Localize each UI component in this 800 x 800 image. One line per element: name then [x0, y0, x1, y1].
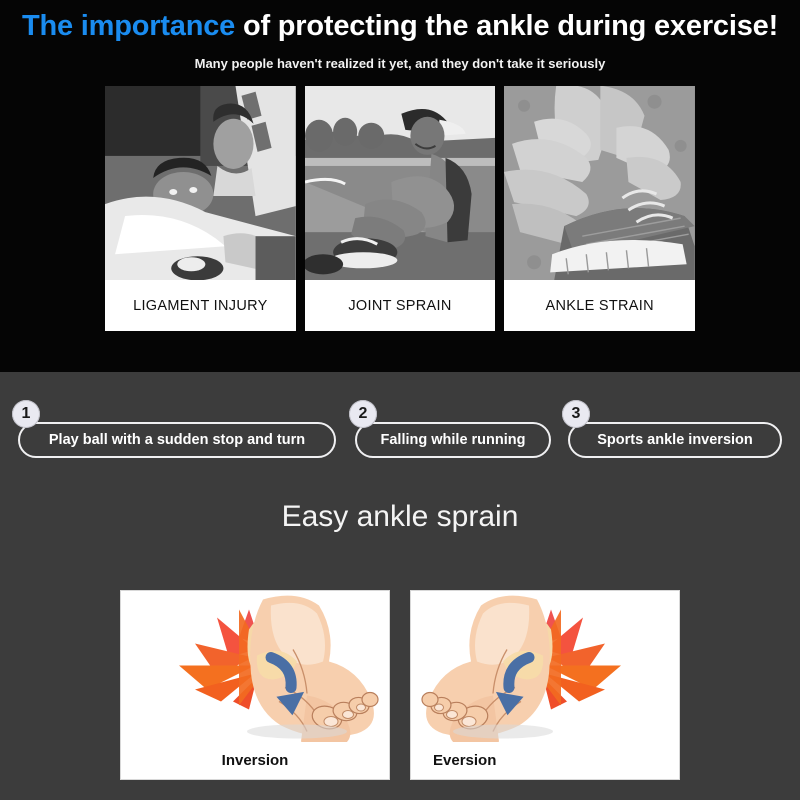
photo-runner-joint-sprain [305, 86, 496, 280]
injury-caption: LIGAMENT INJURY [105, 280, 296, 331]
cause-number-badge-3: 3 [562, 400, 590, 428]
causes-list: Play ball with a sudden stop and turn 1 … [0, 400, 800, 472]
diagram-card-eversion: Eversion [410, 590, 680, 780]
injury-card-ankle-strain: ANKLE STRAIN [504, 86, 695, 331]
cause-pill-3[interactable]: Sports ankle inversion [568, 422, 782, 458]
cause-label: Falling while running [381, 432, 526, 448]
injury-card-joint-sprain: JOINT SPRAIN [305, 86, 496, 331]
diagram-caption: Inversion [121, 742, 389, 779]
inversion-illustration [121, 591, 389, 742]
cause-number-badge-2: 2 [349, 400, 377, 428]
injury-photo-row: LIGAMENT INJURY [105, 86, 695, 331]
foot-eversion-icon [411, 591, 679, 742]
foot-inversion-icon [121, 591, 389, 742]
hero-section: The importance of protecting the ankle d… [0, 0, 800, 372]
section-heading: Easy ankle sprain [0, 500, 800, 534]
infographic-page: The importance of protecting the ankle d… [0, 0, 800, 800]
page-title-accent: The importance [22, 10, 235, 42]
cause-number-badge-1: 1 [12, 400, 40, 428]
page-subtitle: Many people haven't realized it yet, and… [0, 56, 800, 71]
cause-pill-2[interactable]: Falling while running [355, 422, 551, 458]
page-title-rest: of protecting the ankle during exercise! [235, 10, 778, 42]
photo-athlete-ligament-injury [105, 86, 296, 280]
diagram-card-inversion: Inversion [120, 590, 390, 780]
photo-hands-ankle-strain [504, 86, 695, 280]
body-section: Play ball with a sudden stop and turn 1 … [0, 372, 800, 800]
eversion-illustration [411, 591, 679, 742]
injury-caption: JOINT SPRAIN [305, 280, 496, 331]
athlete-illustration-icon [105, 86, 296, 280]
sprain-diagram-row: Inversion [120, 590, 680, 780]
cause-label: Sports ankle inversion [597, 432, 753, 448]
cause-pill-1[interactable]: Play ball with a sudden stop and turn [18, 422, 336, 458]
page-title: The importance of protecting the ankle d… [0, 10, 800, 43]
diagram-caption: Eversion [411, 742, 679, 779]
hands-ankle-illustration-icon [504, 86, 695, 280]
cause-label: Play ball with a sudden stop and turn [49, 432, 305, 448]
injury-card-ligament: LIGAMENT INJURY [105, 86, 296, 331]
runner-illustration-icon [305, 86, 496, 280]
injury-caption: ANKLE STRAIN [504, 280, 695, 331]
